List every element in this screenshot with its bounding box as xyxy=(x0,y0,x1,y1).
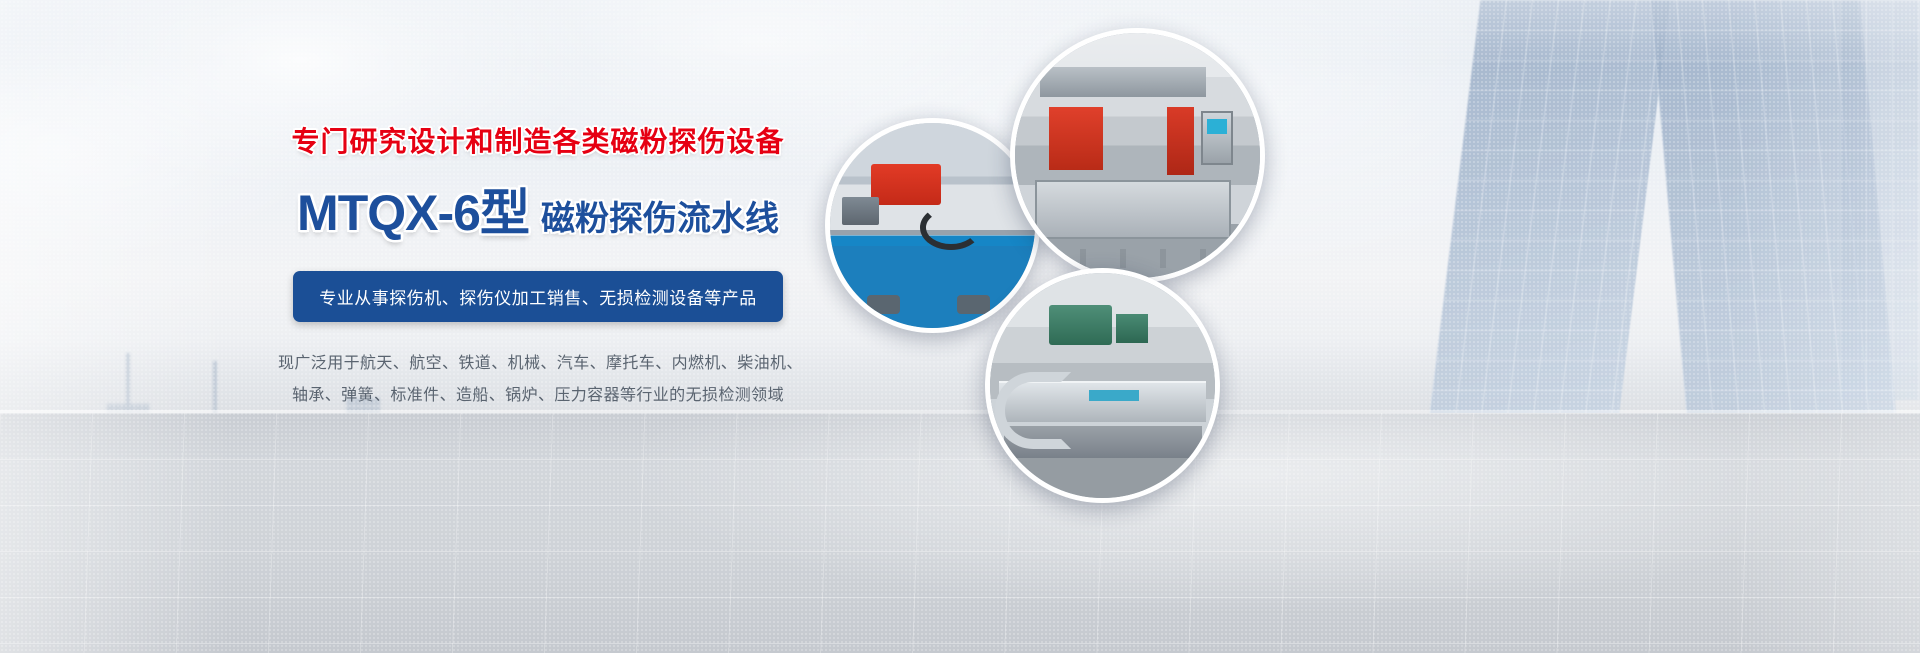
conveyor-inspection-line-photo[interactable] xyxy=(985,268,1220,503)
machine-control-panel xyxy=(842,197,879,226)
description-line-2: 轴承、弹簧、标准件、造船、锅炉、压力容器等行业的无损检测领域 xyxy=(278,380,798,412)
conveyor-green-unit-2 xyxy=(1116,314,1148,343)
stainless-inspection-line-photo[interactable] xyxy=(1010,28,1265,283)
line-control-box xyxy=(1201,111,1233,165)
line-exhaust-hood xyxy=(1040,67,1207,96)
machine-wheel-left xyxy=(867,295,900,313)
description-line-1: 现广泛用于航天、航空、铁道、机械、汽车、摩托车、内燃机、柴油机、 xyxy=(278,348,798,380)
banner-title-row: MTQX-6型 磁粉探伤流水线 xyxy=(278,173,798,245)
product-model-title: MTQX-6型 xyxy=(297,173,529,245)
machine-hose xyxy=(920,205,982,250)
line-stainless-tank xyxy=(1035,180,1231,239)
conveyor-curved-section xyxy=(995,372,1072,449)
photo-3-image xyxy=(990,273,1215,498)
promo-banner: 专门研究设计和制造各类磁粉探伤设备 MTQX-6型 磁粉探伤流水线 专业从事探伤… xyxy=(0,0,1920,653)
line-red-column xyxy=(1167,107,1194,176)
banner-description: 现广泛用于航天、航空、铁道、机械、汽车、摩托车、内燃机、柴油机、 轴承、弹簧、标… xyxy=(278,348,798,412)
line-red-cabinet xyxy=(1049,107,1103,171)
line-support-legs xyxy=(1040,249,1226,269)
photo-2-image xyxy=(1015,33,1260,278)
conveyor-teal-stripe xyxy=(1089,390,1139,401)
machine-wheel-right xyxy=(957,295,990,313)
machine-red-housing xyxy=(871,164,941,205)
conveyor-green-unit xyxy=(1049,305,1112,346)
service-scope-pill[interactable]: 专业从事探伤机、探伤仪加工销售、无损检测设备等产品 xyxy=(293,271,783,322)
banner-copy: 专门研究设计和制造各类磁粉探伤设备 MTQX-6型 磁粉探伤流水线 专业从事探伤… xyxy=(278,125,798,412)
plaza-ground xyxy=(0,413,1920,653)
glass-tower-building xyxy=(1300,0,1920,470)
banner-headline: 专门研究设计和制造各类磁粉探伤设备 xyxy=(278,125,798,159)
product-name-title: 磁粉探伤流水线 xyxy=(541,191,779,240)
